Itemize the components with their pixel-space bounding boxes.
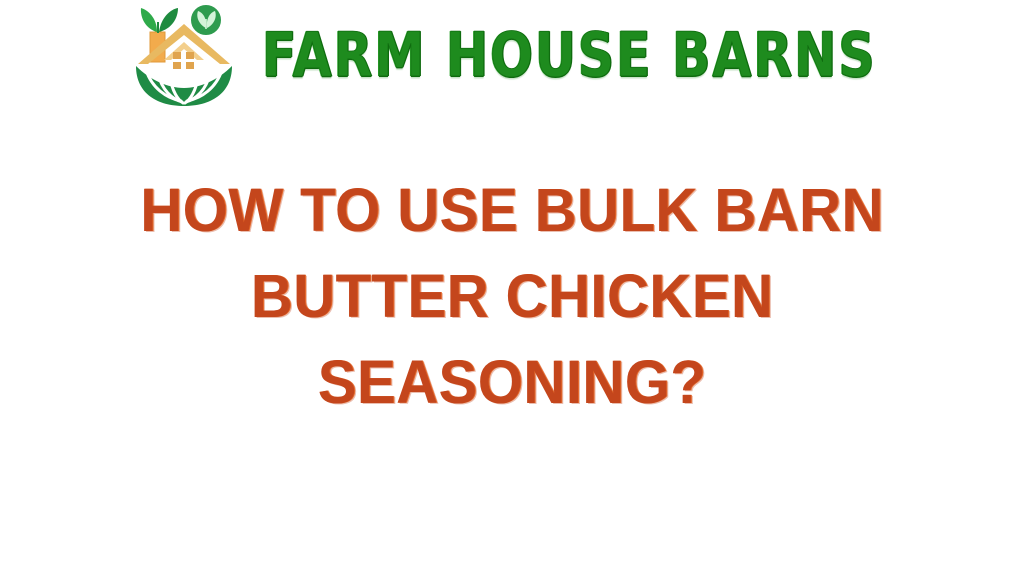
- headline-line-1: HOW TO USE BULK BARN: [62, 165, 962, 256]
- headline-line-3: SEASONING?: [62, 337, 962, 428]
- brand-header: FARM HOUSE BARNS: [0, 0, 1024, 112]
- headline-line-2: BUTTER CHICKEN: [62, 251, 962, 342]
- page-title: HOW TO USE BULK BARN BUTTER CHICKEN SEAS…: [62, 168, 962, 426]
- brand-wordmark: FARM HOUSE BARNS: [262, 25, 877, 86]
- farm-house-barn-logo-icon: [128, 2, 246, 110]
- page-root: FARM HOUSE BARNS HOW TO USE BULK BARN BU…: [0, 0, 1024, 576]
